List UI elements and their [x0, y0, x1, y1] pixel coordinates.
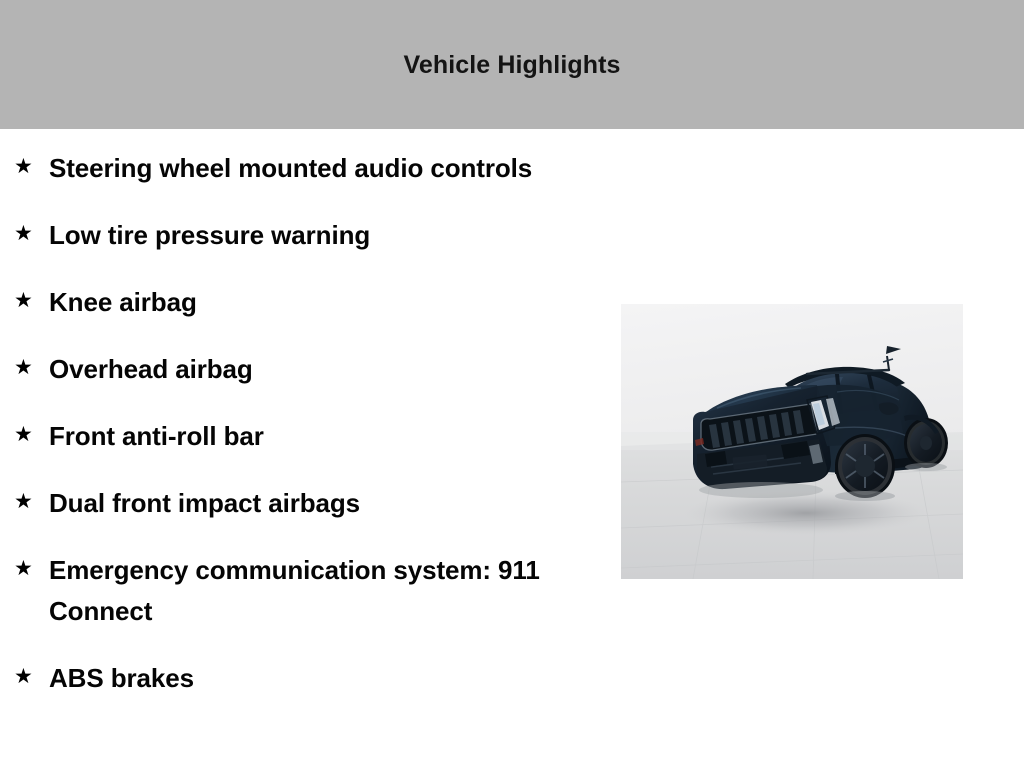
header-band: Vehicle Highlights: [0, 0, 1024, 129]
list-item-label: Overhead airbag: [36, 349, 546, 390]
star-bullet-icon: ★: [14, 414, 36, 455]
vehicle-photo: KIA: [621, 304, 963, 579]
star-bullet-icon: ★: [14, 280, 36, 321]
star-bullet-icon: ★: [14, 481, 36, 522]
vehicle-highlights-list: ★ Steering wheel mounted audio controls …: [0, 129, 600, 725]
star-bullet-icon: ★: [14, 213, 36, 254]
list-item: ★ ABS brakes: [0, 658, 600, 699]
list-item: ★ Emergency communication system: 911 Co…: [0, 550, 600, 632]
star-bullet-icon: ★: [14, 548, 36, 589]
list-item-label: Dual front impact airbags: [36, 483, 546, 524]
list-item: ★ Dual front impact airbags: [0, 483, 600, 524]
list-item: ★ Low tire pressure warning: [0, 215, 600, 256]
star-bullet-icon: ★: [14, 347, 36, 388]
list-item-label: Low tire pressure warning: [36, 215, 546, 256]
vehicle-illustration: KIA: [621, 304, 963, 579]
list-item: ★ Overhead airbag: [0, 349, 600, 390]
slide-canvas: Vehicle Highlights ★ Steering wheel moun…: [0, 0, 1024, 768]
list-item-label: Emergency communication system: 911 Conn…: [36, 550, 546, 632]
list-item: ★ Front anti-roll bar: [0, 416, 600, 457]
star-bullet-icon: ★: [14, 146, 36, 187]
list-item-label: ABS brakes: [36, 658, 546, 699]
list-item-label: Front anti-roll bar: [36, 416, 546, 457]
page-title: Vehicle Highlights: [403, 53, 620, 78]
list-item-label: Steering wheel mounted audio controls: [36, 148, 546, 189]
list-item: ★ Knee airbag: [0, 282, 600, 323]
star-bullet-icon: ★: [14, 656, 36, 697]
list-item: ★ Steering wheel mounted audio controls: [0, 148, 600, 189]
list-item-label: Knee airbag: [36, 282, 546, 323]
